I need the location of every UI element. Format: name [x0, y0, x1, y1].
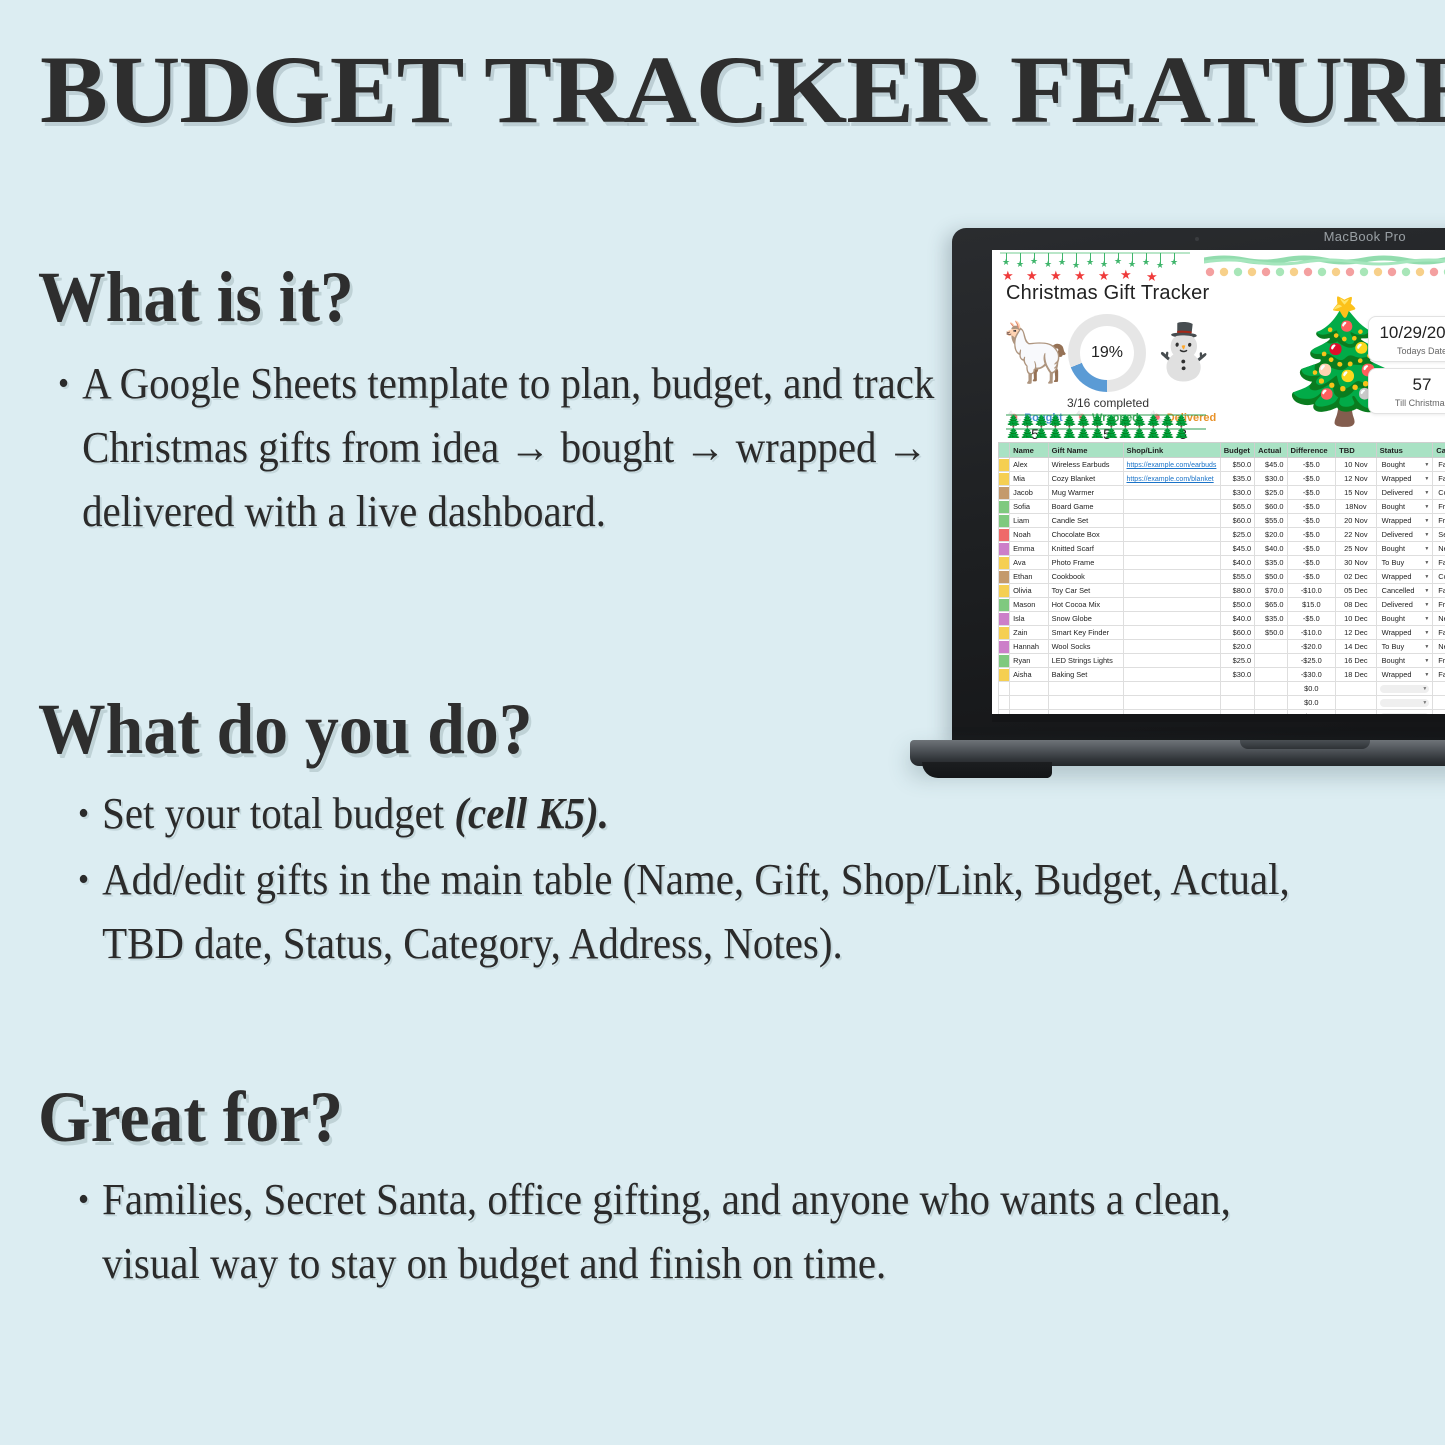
row-color-swatch: [999, 682, 1010, 696]
cell-actual[interactable]: [1255, 668, 1287, 682]
cell-actual[interactable]: $35.0: [1255, 556, 1287, 570]
cell-tbd[interactable]: 18Nov: [1336, 500, 1377, 514]
table-row[interactable]: MasonHot Cocoa Mix$50.0$65.0$15.008 DecD…: [999, 598, 1445, 612]
svg-text:🌲: 🌲: [1020, 427, 1035, 438]
svg-text:🌲: 🌲: [1118, 427, 1133, 438]
cell-status[interactable]: Delivered▼: [1376, 528, 1433, 542]
list-item: • A Google Sheets template to plan, budg…: [58, 352, 951, 544]
cell-difference: -$5.0: [1287, 542, 1336, 556]
table-row[interactable]: JacobMug Warmer$30.0$25.0-$5.015 NovDeli…: [999, 486, 1445, 500]
cell-difference: -$5.0: [1287, 458, 1336, 472]
list-item: • Families, Secret Santa, office gifting…: [78, 1168, 1324, 1296]
cell-actual[interactable]: $30.0: [1255, 472, 1287, 486]
table-row[interactable]: ZainSmart Key Finder$60.0$50.0-$10.012 D…: [999, 626, 1445, 640]
svg-text:🌲: 🌲: [1118, 414, 1133, 428]
column-header-category[interactable]: Category: [1433, 443, 1445, 458]
cell-gift[interactable]: [1048, 696, 1123, 710]
gift-table-header: Name Gift Name Shop/Link Budget Actual D…: [999, 443, 1445, 458]
column-header-name[interactable]: Name: [1010, 443, 1048, 458]
bullet-text: A Google Sheets template to plan, budget…: [82, 352, 951, 544]
chevron-down-icon: ▼: [1424, 672, 1429, 678]
cell-actual[interactable]: $60.0: [1255, 500, 1287, 514]
cell-category[interactable]: Collag...▼: [1433, 570, 1445, 584]
bauble-garland-icon: [1204, 254, 1445, 282]
cell-status[interactable]: Wrapped▼: [1376, 626, 1433, 640]
svg-text:🌲: 🌲: [1104, 414, 1119, 428]
cell-shop[interactable]: [1123, 528, 1220, 542]
cell-status[interactable]: To Buy▼: [1376, 556, 1433, 570]
cell-shop[interactable]: [1123, 500, 1220, 514]
progress-percent-label: 19%: [1080, 326, 1134, 380]
cell-tbd[interactable]: 02 Dec: [1336, 570, 1377, 584]
cell-shop[interactable]: [1123, 556, 1220, 570]
card-todays-date: 10/29/2025 Todays Date: [1368, 316, 1445, 362]
cell-difference: -$5.0: [1287, 514, 1336, 528]
cell-budget[interactable]: $60.0: [1220, 514, 1254, 528]
cell-name[interactable]: [1010, 696, 1048, 710]
row-color-swatch: [999, 654, 1010, 668]
cell-gift[interactable]: Cozy Blanket: [1048, 472, 1123, 486]
chevron-down-icon: ▼: [1424, 560, 1429, 566]
cell-difference: $0.0: [1287, 682, 1336, 696]
cell-category[interactable]: Friends▼: [1433, 514, 1445, 528]
chevron-down-icon: ▼: [1422, 686, 1427, 692]
cell-shop[interactable]: [1123, 626, 1220, 640]
cell-tbd[interactable]: 10 Dec: [1336, 612, 1377, 626]
cell-status[interactable]: Wrapped▼: [1376, 472, 1433, 486]
svg-text:★: ★: [1120, 268, 1132, 283]
cell-difference: -$30.0: [1287, 668, 1336, 682]
cell-status[interactable]: Bought▼: [1376, 500, 1433, 514]
cell-difference: -$10.0: [1287, 626, 1336, 640]
cell-difference: -$5.0: [1287, 528, 1336, 542]
cell-gift[interactable]: Wool Socks: [1048, 640, 1123, 654]
cell-category[interactable]: Family▼: [1433, 556, 1445, 570]
cell-gift[interactable]: Chocolate Box: [1048, 528, 1123, 542]
column-header-difference[interactable]: Difference: [1287, 443, 1336, 458]
svg-text:🌲: 🌲: [1132, 427, 1147, 438]
cell-category[interactable]: Family▼: [1433, 458, 1445, 472]
column-header-actual[interactable]: Actual: [1255, 443, 1287, 458]
chevron-down-icon: ▼: [1424, 504, 1429, 510]
card-value: 10/29/2025: [1371, 323, 1445, 343]
svg-text:★: ★: [1002, 258, 1010, 268]
cell-name[interactable]: Ava: [1010, 556, 1048, 570]
svg-text:★: ★: [1016, 260, 1024, 270]
cell-status[interactable]: Bought▼: [1376, 458, 1433, 472]
table-header-row: Name Gift Name Shop/Link Budget Actual D…: [999, 443, 1445, 458]
column-header-swatch: [999, 443, 1010, 458]
cell-difference: -$10.0: [1287, 584, 1336, 598]
cell-budget[interactable]: $25.0: [1220, 654, 1254, 668]
cell-category[interactable]: Neighb...▼: [1433, 612, 1445, 626]
cell-name[interactable]: Olivia: [1010, 584, 1048, 598]
cell-status[interactable]: Delivered▼: [1376, 598, 1433, 612]
section-heading-great-for: Great for?: [38, 1078, 343, 1156]
cell-gift[interactable]: Wireless Earbuds: [1048, 458, 1123, 472]
chevron-down-icon: ▼: [1424, 462, 1429, 468]
column-header-shop[interactable]: Shop/Link: [1123, 443, 1220, 458]
svg-text:🌲: 🌲: [1160, 427, 1175, 438]
cell-difference: -$5.0: [1287, 556, 1336, 570]
cell-actual[interactable]: $70.0: [1255, 584, 1287, 598]
cell-budget[interactable]: $45.0: [1220, 542, 1254, 556]
row-color-swatch: [999, 500, 1010, 514]
table-row[interactable]: AlexWireless Earbudshttps://example.com/…: [999, 458, 1445, 472]
card-till-christmas: 57 Till Christmas: [1368, 368, 1445, 414]
cell-actual[interactable]: $50.0: [1255, 570, 1287, 584]
svg-text:🌲: 🌲: [1048, 414, 1063, 428]
cell-shop[interactable]: https://example.com/earbuds: [1123, 458, 1220, 472]
cell-shop[interactable]: [1123, 584, 1220, 598]
table-row[interactable]: RyanLED Strings Lights$25.0-$25.016 DecB…: [999, 654, 1445, 668]
table-row[interactable]: SofiaBoard Game$65.0$60.0-$5.018NovBough…: [999, 500, 1445, 514]
table-row[interactable]: HannahWool Socks$20.0-$20.014 DecTo Buy▼…: [999, 640, 1445, 654]
chevron-down-icon: ▼: [1424, 490, 1429, 496]
cell-budget[interactable]: $35.0: [1220, 472, 1254, 486]
cell-category[interactable]: Friends▼: [1433, 598, 1445, 612]
cell-gift[interactable]: Knitted Scarf: [1048, 542, 1123, 556]
shop-link[interactable]: https://example.com/blanket: [1127, 476, 1214, 483]
chevron-down-icon: ▼: [1424, 532, 1429, 538]
table-row-empty[interactable]: $0.0▼▼: [999, 696, 1445, 710]
cell-tbd[interactable]: 14 Dec: [1336, 640, 1377, 654]
cell-tbd[interactable]: 10 Nov: [1336, 458, 1377, 472]
cell-name[interactable]: Jacob: [1010, 486, 1048, 500]
svg-text:★: ★: [1114, 257, 1122, 267]
table-row[interactable]: IslaSnow Globe$40.0$35.0-$5.010 DecBough…: [999, 612, 1445, 626]
bullet-dot-icon: •: [78, 1168, 89, 1232]
cell-tbd[interactable]: 12 Dec: [1336, 626, 1377, 640]
cell-budget[interactable]: $20.0: [1220, 640, 1254, 654]
cell-category[interactable]: ▼: [1433, 696, 1445, 710]
bullet-list-what-is-it: • A Google Sheets template to plan, budg…: [58, 352, 1018, 544]
row-color-swatch: [999, 584, 1010, 598]
cell-tbd[interactable]: 20 Nov: [1336, 514, 1377, 528]
svg-text:🌲: 🌲: [1062, 414, 1077, 428]
table-row[interactable]: AishaBaking Set$30.0-$30.018 DecWrapped▼…: [999, 668, 1445, 682]
row-color-swatch: [999, 556, 1010, 570]
bullet-list-what-do-you-do: • Set your total budget (cell K5). • Add…: [78, 782, 1408, 978]
cell-difference: -$20.0: [1287, 640, 1336, 654]
cell-category[interactable]: Family▼: [1433, 668, 1445, 682]
cell-budget[interactable]: $65.0: [1220, 500, 1254, 514]
cell-shop[interactable]: [1123, 612, 1220, 626]
table-row[interactable]: AvaPhoto Frame$40.0$35.0-$5.030 NovTo Bu…: [999, 556, 1445, 570]
cell-gift[interactable]: Board Game: [1048, 500, 1123, 514]
bullet-text-plain: Set your total budget: [102, 789, 454, 838]
spreadsheet-title: Christmas Gift Tracker: [1006, 282, 1209, 305]
table-row[interactable]: OliviaToy Car Set$80.0$70.0-$10.005 DecC…: [999, 584, 1445, 598]
cell-category[interactable]: Neighb...▼: [1433, 542, 1445, 556]
cell-shop[interactable]: [1123, 542, 1220, 556]
svg-text:🌲: 🌲: [1062, 427, 1077, 438]
chevron-down-icon: ▼: [1424, 574, 1429, 580]
row-color-swatch: [999, 528, 1010, 542]
cell-difference: -$5.0: [1287, 612, 1336, 626]
cell-category[interactable]: Secret ...▼: [1433, 528, 1445, 542]
cell-gift[interactable]: [1048, 682, 1123, 696]
svg-text:🌲: 🌲: [1090, 414, 1105, 428]
svg-text:★: ★: [1170, 258, 1178, 268]
cell-actual[interactable]: [1255, 682, 1287, 696]
cell-category[interactable]: Friends▼: [1433, 500, 1445, 514]
cell-gift[interactable]: Mug Warmer: [1048, 486, 1123, 500]
laptop-screen: ★★ ★★ ★★ ★★ ★★ ★★ ★ ★★ ★★ ★★ ★: [992, 250, 1445, 722]
cell-name[interactable]: Emma: [1010, 542, 1048, 556]
cell-budget[interactable]: $80.0: [1220, 584, 1254, 598]
cell-name[interactable]: Zain: [1010, 626, 1048, 640]
cell-budget[interactable]: [1220, 696, 1254, 710]
cell-shop[interactable]: [1123, 668, 1220, 682]
cell-category[interactable]: Family▼: [1433, 472, 1445, 486]
cell-tbd[interactable]: 05 Dec: [1336, 584, 1377, 598]
card-label: Till Christmas: [1371, 398, 1445, 408]
bullet-dot-icon: •: [58, 352, 69, 416]
cell-name[interactable]: Isla: [1010, 612, 1048, 626]
list-item: • Add/edit gifts in the main table (Name…: [78, 848, 1315, 976]
cell-gift[interactable]: Candle Set: [1048, 514, 1123, 528]
column-header-status[interactable]: Status: [1376, 443, 1433, 458]
svg-text:🌲: 🌲: [1090, 427, 1105, 438]
cell-budget[interactable]: $30.0: [1220, 668, 1254, 682]
cell-tbd[interactable]: [1336, 696, 1377, 710]
column-header-tbd[interactable]: TBD: [1336, 443, 1377, 458]
cell-tbd[interactable]: 22 Nov: [1336, 528, 1377, 542]
cell-shop[interactable]: https://example.com/blanket: [1123, 472, 1220, 486]
row-color-swatch: [999, 696, 1010, 710]
cell-category[interactable]: ▼: [1433, 682, 1445, 696]
cell-budget[interactable]: $40.0: [1220, 612, 1254, 626]
cell-tbd[interactable]: 12 Nov: [1336, 472, 1377, 486]
cell-actual[interactable]: $55.0: [1255, 514, 1287, 528]
cell-gift[interactable]: Toy Car Set: [1048, 584, 1123, 598]
cell-status[interactable]: Wrapped▼: [1376, 514, 1433, 528]
chevron-down-icon: ▼: [1424, 658, 1429, 664]
cell-difference: $0.0: [1287, 696, 1336, 710]
table-row[interactable]: MiaCozy Blankethttps://example.com/blank…: [999, 472, 1445, 486]
cell-tbd[interactable]: 30 Nov: [1336, 556, 1377, 570]
cell-status[interactable]: Bought▼: [1376, 654, 1433, 668]
row-color-swatch: [999, 612, 1010, 626]
cell-gift[interactable]: Snow Globe: [1048, 612, 1123, 626]
cell-gift[interactable]: LED Strings Lights: [1048, 654, 1123, 668]
chevron-down-icon: ▼: [1424, 546, 1429, 552]
cell-name[interactable]: Noah: [1010, 528, 1048, 542]
chevron-down-icon: ▼: [1424, 644, 1429, 650]
cell-difference: -$25.0: [1287, 654, 1336, 668]
cell-name[interactable]: Mia: [1010, 472, 1048, 486]
bullet-text-emphasis: (cell K5).: [454, 789, 609, 838]
column-header-gift[interactable]: Gift Name: [1048, 443, 1123, 458]
cell-name[interactable]: Alex: [1010, 458, 1048, 472]
row-color-swatch: [999, 668, 1010, 682]
shop-link[interactable]: https://example.com/earbuds: [1127, 462, 1217, 469]
cell-status[interactable]: Bought▼: [1376, 612, 1433, 626]
row-color-swatch: [999, 514, 1010, 528]
cell-shop[interactable]: [1123, 570, 1220, 584]
svg-text:★: ★: [1142, 258, 1150, 268]
cell-name[interactable]: Ethan: [1010, 570, 1048, 584]
row-color-swatch: [999, 640, 1010, 654]
cell-difference: -$5.0: [1287, 486, 1336, 500]
svg-text:🌲: 🌲: [1006, 414, 1021, 428]
gift-table[interactable]: Name Gift Name Shop/Link Budget Actual D…: [998, 442, 1445, 722]
spreadsheet-dashboard: ★★ ★★ ★★ ★★ ★★ ★★ ★ ★★ ★★ ★★ ★: [992, 250, 1445, 722]
reindeer-icon: 🦙: [1000, 318, 1066, 388]
svg-text:🌲: 🌲: [1076, 414, 1091, 428]
cell-tbd[interactable]: 08 Dec: [1336, 598, 1377, 612]
cell-category[interactable]: Neighb...▼: [1433, 640, 1445, 654]
cell-name[interactable]: Ryan: [1010, 654, 1048, 668]
page-title: BUDGET TRACKER FEATURES: [40, 40, 1445, 140]
cell-actual[interactable]: $25.0: [1255, 486, 1287, 500]
cell-category[interactable]: Friends▼: [1433, 654, 1445, 668]
svg-text:🌲: 🌲: [1076, 427, 1091, 438]
cell-gift[interactable]: Smart Key Finder: [1048, 626, 1123, 640]
row-color-swatch: [999, 570, 1010, 584]
svg-text:🌲: 🌲: [1034, 414, 1049, 428]
cell-tbd[interactable]: 15 Nov: [1336, 486, 1377, 500]
table-row-empty[interactable]: $0.0▼▼: [999, 682, 1445, 696]
cell-actual[interactable]: $40.0: [1255, 542, 1287, 556]
list-item: • Set your total budget (cell K5).: [78, 782, 1315, 846]
cell-actual[interactable]: $35.0: [1255, 612, 1287, 626]
cell-category[interactable]: Collag...▼: [1433, 486, 1445, 500]
cell-shop[interactable]: [1123, 696, 1220, 710]
svg-text:🌲: 🌲: [1160, 414, 1175, 428]
chevron-down-icon: ▼: [1424, 588, 1429, 594]
card-value: 57: [1371, 375, 1445, 395]
cell-shop[interactable]: [1123, 598, 1220, 612]
cell-shop[interactable]: [1123, 514, 1220, 528]
bullet-text: Families, Secret Santa, office gifting, …: [102, 1168, 1324, 1296]
chevron-down-icon: ▼: [1424, 602, 1429, 608]
cell-status[interactable]: ▼: [1376, 682, 1433, 696]
table-row[interactable]: NoahChocolate Box$25.0$20.0-$5.022 NovDe…: [999, 528, 1445, 542]
cell-shop[interactable]: [1123, 640, 1220, 654]
cell-name[interactable]: Aisha: [1010, 668, 1048, 682]
cell-budget[interactable]: $50.0: [1220, 458, 1254, 472]
cell-actual[interactable]: $20.0: [1255, 528, 1287, 542]
cell-budget[interactable]: $60.0: [1220, 626, 1254, 640]
cell-name[interactable]: [1010, 682, 1048, 696]
laptop-foot: [922, 762, 1052, 778]
cell-name[interactable]: Sofia: [1010, 500, 1048, 514]
cell-difference: $15.0: [1287, 598, 1336, 612]
screen-bottom-edge: [992, 714, 1445, 722]
cell-name[interactable]: Hannah: [1010, 640, 1048, 654]
cell-budget[interactable]: $25.0: [1220, 528, 1254, 542]
cell-budget[interactable]: $50.0: [1220, 598, 1254, 612]
cell-actual[interactable]: [1255, 696, 1287, 710]
table-row[interactable]: LiamCandle Set$60.0$55.0-$5.020 NovWrapp…: [999, 514, 1445, 528]
bullet-list-great-for: • Families, Secret Santa, office gifting…: [78, 1168, 1418, 1296]
cell-difference: -$5.0: [1287, 472, 1336, 486]
laptop-brand-label: MacBook Pro: [1324, 229, 1406, 244]
cell-budget[interactable]: $30.0: [1220, 486, 1254, 500]
svg-text:★: ★: [1030, 257, 1038, 267]
laptop-camera-icon: [1195, 237, 1199, 241]
svg-text:🌲: 🌲: [1174, 427, 1189, 438]
chevron-down-icon: ▼: [1424, 518, 1429, 524]
table-row[interactable]: EthanCookbook$55.0$50.0-$5.002 DecWrappe…: [999, 570, 1445, 584]
cell-gift[interactable]: Baking Set: [1048, 668, 1123, 682]
cell-actual[interactable]: $50.0: [1255, 626, 1287, 640]
row-color-swatch: [999, 626, 1010, 640]
row-color-swatch: [999, 598, 1010, 612]
cell-tbd[interactable]: 16 Dec: [1336, 654, 1377, 668]
cell-status[interactable]: Wrapped▼: [1376, 668, 1433, 682]
svg-text:★: ★: [1086, 258, 1094, 268]
laptop-mockup: ★★ ★★ ★★ ★★ ★★ ★★ ★ ★★ ★★ ★★ ★: [952, 228, 1445, 788]
cell-tbd[interactable]: [1336, 682, 1377, 696]
cell-budget[interactable]: $55.0: [1220, 570, 1254, 584]
tree-bunting-icon: 🌲🌲🌲 🌲🌲🌲 🌲🌲🌲 🌲🌲🌲 🌲 🌲🌲🌲 🌲🌲🌲 🌲🌲🌲 🌲🌲🌲 🌲: [1006, 410, 1206, 438]
svg-text:🌲: 🌲: [1006, 427, 1021, 438]
chevron-down-icon: ▼: [1422, 700, 1427, 706]
table-row[interactable]: EmmaKnitted Scarf$45.0$40.0-$5.025 NovBo…: [999, 542, 1445, 556]
cell-status[interactable]: Delivered▼: [1376, 486, 1433, 500]
cell-budget[interactable]: $40.0: [1220, 556, 1254, 570]
progress-donut-chart: 19%: [1068, 314, 1146, 392]
bullet-dot-icon: •: [78, 782, 89, 846]
cell-status[interactable]: Wrapped▼: [1376, 570, 1433, 584]
row-color-swatch: [999, 458, 1010, 472]
svg-text:🌲: 🌲: [1146, 414, 1161, 428]
cell-status[interactable]: Bought▼: [1376, 542, 1433, 556]
cell-actual[interactable]: $65.0: [1255, 598, 1287, 612]
cell-tbd[interactable]: 18 Dec: [1336, 668, 1377, 682]
chevron-down-icon: ▼: [1424, 630, 1429, 636]
svg-text:★: ★: [1058, 258, 1066, 268]
cell-category[interactable]: Family▼: [1433, 584, 1445, 598]
cell-tbd[interactable]: 25 Nov: [1336, 542, 1377, 556]
garland-row: ★★ ★★ ★★ ★★ ★★ ★★ ★ ★★ ★★ ★★ ★: [992, 250, 1445, 284]
laptop-notch: [1240, 740, 1370, 749]
cell-category[interactable]: Family▼: [1433, 626, 1445, 640]
cell-gift[interactable]: Cookbook: [1048, 570, 1123, 584]
svg-text:🌲: 🌲: [1020, 414, 1035, 428]
cell-gift[interactable]: Hot Cocoa Mix: [1048, 598, 1123, 612]
column-header-budget[interactable]: Budget: [1220, 443, 1254, 458]
cell-shop[interactable]: [1123, 654, 1220, 668]
cell-name[interactable]: Mason: [1010, 598, 1048, 612]
cell-name[interactable]: Liam: [1010, 514, 1048, 528]
cell-gift[interactable]: Photo Frame: [1048, 556, 1123, 570]
section-heading-what-is-it: What is it?: [38, 258, 354, 336]
section-heading-what-do-you-do: What do you do?: [38, 690, 533, 768]
cell-shop[interactable]: [1123, 682, 1220, 696]
cell-shop[interactable]: [1123, 486, 1220, 500]
row-color-swatch: [999, 486, 1010, 500]
bullet-text: Add/edit gifts in the main table (Name, …: [102, 848, 1315, 976]
cell-actual[interactable]: [1255, 654, 1287, 668]
cell-status[interactable]: Cancelled▼: [1376, 584, 1433, 598]
cell-difference: -$5.0: [1287, 500, 1336, 514]
chevron-down-icon: ▼: [1424, 476, 1429, 482]
progress-caption: 3/16 completed: [1046, 396, 1170, 410]
cell-difference: -$5.0: [1287, 570, 1336, 584]
cell-status[interactable]: To Buy▼: [1376, 640, 1433, 654]
row-color-swatch: [999, 542, 1010, 556]
cell-actual[interactable]: [1255, 640, 1287, 654]
cell-actual[interactable]: $45.0: [1255, 458, 1287, 472]
cell-status[interactable]: ▼: [1376, 696, 1433, 710]
cell-budget[interactable]: [1220, 682, 1254, 696]
svg-text:🌲: 🌲: [1174, 414, 1189, 428]
svg-text:🌲: 🌲: [1132, 414, 1147, 428]
